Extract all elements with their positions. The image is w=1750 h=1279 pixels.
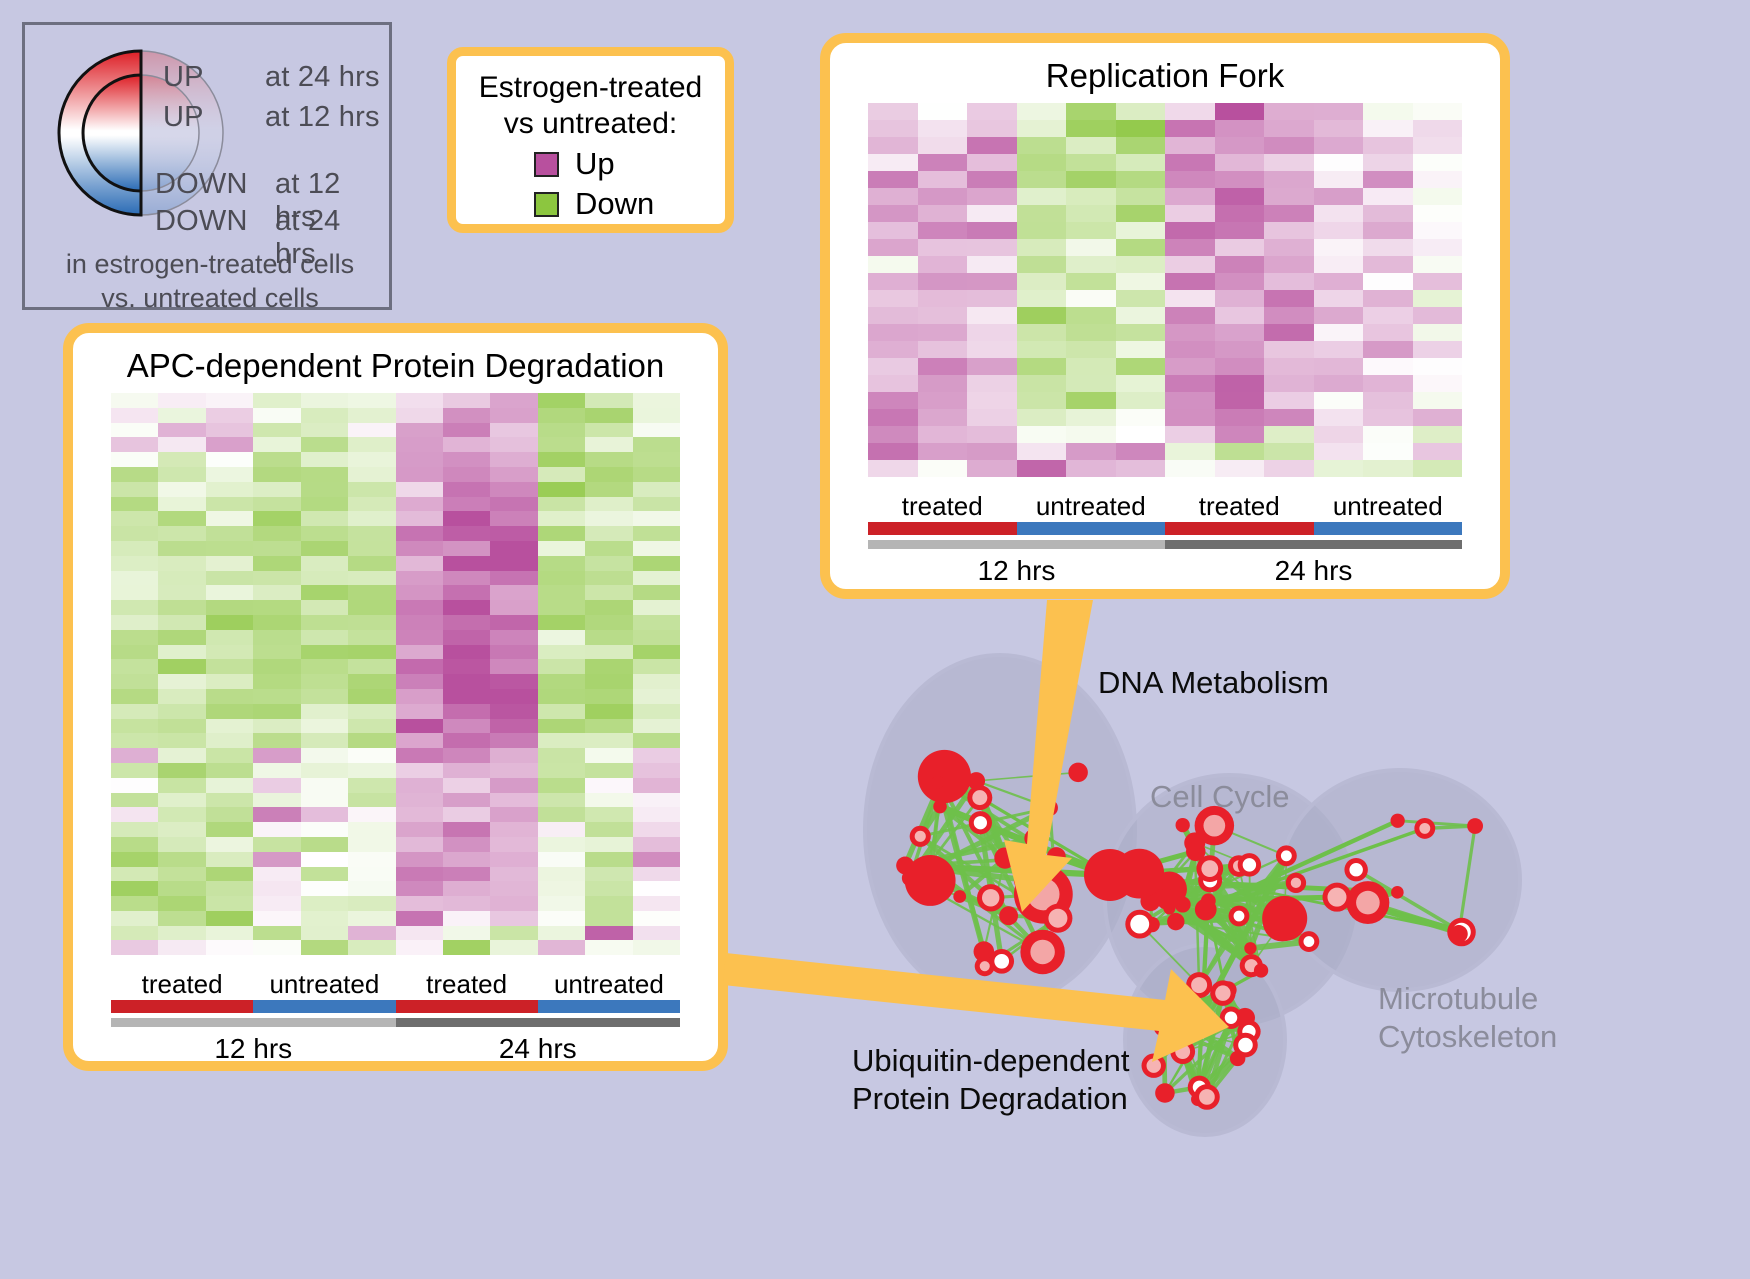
network-edge: [1368, 903, 1459, 934]
network-edge: [1177, 1017, 1197, 1100]
heatmap-cell: [206, 807, 253, 822]
network-edge: [1198, 869, 1210, 1100]
heatmap-cell: [1363, 171, 1413, 188]
network-node: [1184, 832, 1205, 853]
heatmap-cell: [1165, 409, 1215, 426]
heatmap-cell: [1413, 239, 1463, 256]
heatmap-cell: [585, 911, 632, 926]
cluster-label-microtubule: Microtubule: [1378, 980, 1557, 1018]
network-edge: [1285, 856, 1287, 919]
heatmap-cell: [1413, 307, 1463, 324]
network-node: [1152, 871, 1187, 906]
heatmap-cell: [1165, 273, 1215, 290]
heatmap-cell: [1215, 307, 1265, 324]
heatmap-cell: [158, 793, 205, 808]
network-node-core: [1452, 923, 1471, 942]
heatmap-cell: [158, 778, 205, 793]
network-edge: [1139, 874, 1284, 919]
network-edge: [1195, 843, 1231, 1018]
heatmap-cell: [1066, 341, 1116, 358]
network-edge: [1368, 892, 1397, 902]
heatmap-cell: [158, 837, 205, 852]
heatmap-cell: [1165, 358, 1215, 375]
heatmap-cell: [1165, 188, 1215, 205]
network-edge: [920, 836, 1058, 918]
heatmap-cell: [868, 120, 918, 137]
heatmap-cell: [633, 482, 680, 497]
heatmap-cell: [443, 556, 490, 571]
heatmap-cell: [1165, 324, 1215, 341]
heatmap-cell: [253, 704, 300, 719]
network-node: [1276, 845, 1297, 866]
heatmap-cell: [111, 793, 158, 808]
legend-item-down: Down: [534, 186, 725, 222]
network-edge: [910, 878, 930, 880]
heatmap-cell: [538, 645, 585, 660]
network-node-core: [1291, 878, 1301, 888]
heatmap-cell: [490, 482, 537, 497]
heatmap-cell: [538, 659, 585, 674]
heatmap-cell: [1017, 239, 1067, 256]
heatmap-cell: [967, 188, 1017, 205]
heatmap-cell: [918, 205, 968, 222]
heatmap-cell: [206, 526, 253, 541]
heatmap-cell: [253, 793, 300, 808]
heatmap-cell: [1363, 375, 1413, 392]
heatmap-cell: [348, 393, 395, 408]
heatmap-cell: [206, 689, 253, 704]
heatmap-cell: [1314, 171, 1364, 188]
heatmap-cell: [1116, 375, 1166, 392]
network-node: [1170, 1039, 1195, 1064]
network-edge: [910, 808, 1050, 878]
heatmap-cell: [868, 375, 918, 392]
heatmap-cell: [348, 733, 395, 748]
heatmap-cell: [1215, 273, 1265, 290]
heatmap-cell: [1066, 375, 1116, 392]
network-edge: [1206, 901, 1209, 910]
updown-legend-title: Estrogen-treated vs untreated:: [456, 56, 725, 142]
heatmap-cell: [443, 793, 490, 808]
network-node: [1344, 858, 1367, 881]
heatmap-cell: [348, 896, 395, 911]
heatmap-cell: [1215, 222, 1265, 239]
heatmap-cell: [918, 307, 968, 324]
heatmap-cell: [1165, 222, 1215, 239]
heatmap-cell: [967, 103, 1017, 120]
heatmap-cell: [206, 674, 253, 689]
heatmap-cell: [1413, 290, 1463, 307]
heatmap-cell: [1413, 392, 1463, 409]
heatmap-cell: [111, 482, 158, 497]
heatmap-cell: [253, 807, 300, 822]
heatmap-cell: [1165, 256, 1215, 273]
heatmap-cell: [1215, 290, 1265, 307]
heatmap-cell: [206, 585, 253, 600]
heatmap-cell: [206, 497, 253, 512]
panel-apc-degradation: APC-dependent Protein Degradation treate…: [63, 323, 728, 1071]
heatmap-cell: [538, 571, 585, 586]
network-node: [1262, 896, 1307, 941]
heatmap-cell: [206, 926, 253, 941]
network-edge: [928, 798, 979, 865]
network-node: [999, 906, 1018, 925]
heatmap-cell: [1314, 426, 1364, 443]
heatmap-cell: [253, 645, 300, 660]
heatmap-cell: [1165, 103, 1215, 120]
heatmap-cell: [918, 324, 968, 341]
network-edge: [1337, 897, 1462, 932]
heatmap-cell: [585, 585, 632, 600]
heatmap-cell: [1017, 341, 1067, 358]
network-edge: [1146, 880, 1398, 892]
network-edge: [1169, 865, 1249, 889]
network-node: [1233, 1033, 1258, 1058]
heatmap-cell: [1215, 256, 1265, 273]
heatmap-cell: [538, 748, 585, 763]
wheel-time-up-24: at 24 hrs: [265, 61, 380, 94]
heatmap-cell: [918, 273, 968, 290]
heatmap-cell: [1116, 205, 1166, 222]
network-edge: [1398, 821, 1475, 826]
network-node-core: [1215, 985, 1230, 1000]
heatmap-cell: [301, 511, 348, 526]
heatmap-cell: [490, 733, 537, 748]
heatmap-cell: [206, 630, 253, 645]
network-node: [902, 870, 919, 887]
heatmap-cell: [1017, 392, 1067, 409]
network-edge: [1140, 880, 1210, 924]
network-node: [1235, 1008, 1255, 1028]
network-node: [1142, 1054, 1166, 1078]
network-node: [1156, 889, 1177, 910]
network-edge: [960, 896, 1009, 915]
network-node: [1114, 849, 1164, 899]
network-edge: [1177, 1017, 1207, 1097]
heatmap-cell: [490, 867, 537, 882]
panel-replication-fork: Replication Fork treateduntreatedtreated…: [820, 33, 1510, 599]
heatmap-cell: [348, 748, 395, 763]
heatmap-cell: [1116, 222, 1166, 239]
heatmap-cell: [538, 763, 585, 778]
heatmap-cell: [538, 408, 585, 423]
heatmap-cell: [868, 103, 918, 120]
condition-color-bar-apc: [111, 1000, 680, 1013]
heatmap-cell: [538, 911, 585, 926]
network-edge: [1183, 856, 1287, 1052]
arrow-replication-fork-to-cluster: [1004, 600, 1093, 912]
heatmap-cell: [868, 137, 918, 154]
heatmap-cell: [967, 409, 1017, 426]
heatmap-cell: [1363, 290, 1413, 307]
heatmap-cell: [1314, 290, 1364, 307]
network-node: [1014, 865, 1073, 924]
cluster-halo-microtubule: [1280, 770, 1520, 990]
network-node-core: [1303, 936, 1314, 947]
heatmap-cell: [1264, 120, 1314, 137]
time-label: 12 hrs: [868, 555, 1165, 587]
heatmap-cell: [111, 585, 158, 600]
heatmap-cell: [490, 556, 537, 571]
heatmap-cell: [585, 467, 632, 482]
heatmap-cell: [1116, 239, 1166, 256]
heatmap-cell: [111, 645, 158, 660]
heatmap-cell: [158, 763, 205, 778]
network-edge: [938, 781, 976, 782]
network-edge: [1150, 897, 1337, 901]
heatmap-cell: [1116, 460, 1166, 477]
heatmap-cell: [1215, 188, 1265, 205]
network-edge: [976, 781, 1005, 858]
network-edge: [1250, 856, 1286, 948]
heatmap-cell: [585, 926, 632, 941]
heatmap-cell: [538, 778, 585, 793]
network-edge: [1154, 990, 1228, 1066]
network-edge: [1183, 825, 1252, 966]
heatmap-cell: [253, 482, 300, 497]
heatmap-cell: [868, 239, 918, 256]
heatmap-cell: [348, 630, 395, 645]
heatmap-cell: [490, 689, 537, 704]
heatmap-cell: [206, 423, 253, 438]
heatmap-cell: [1017, 426, 1067, 443]
heatmap-cell: [253, 674, 300, 689]
heatmap-cell: [1066, 256, 1116, 273]
heatmap-cell: [396, 556, 443, 571]
heatmap-cell: [348, 926, 395, 941]
heatmap-cell: [1413, 324, 1463, 341]
heatmap-cell: [443, 748, 490, 763]
heatmap-cell: [301, 704, 348, 719]
heatmap-cell: [301, 896, 348, 911]
network-edge: [1169, 883, 1296, 889]
network-node: [1230, 1051, 1245, 1066]
heatmap-cell: [1215, 324, 1265, 341]
heatmap-cell: [111, 571, 158, 586]
heatmap-cell: [301, 793, 348, 808]
heatmap-cell: [1116, 103, 1166, 120]
network-node: [989, 949, 1014, 974]
network-node: [1047, 847, 1066, 866]
network-edge: [905, 782, 941, 865]
network-edge: [1183, 1018, 1245, 1052]
heatmap-cell: [443, 689, 490, 704]
heatmap-cell: [633, 807, 680, 822]
heatmap-cell: [490, 571, 537, 586]
network-edge: [1210, 866, 1239, 869]
heatmap-cell: [1116, 188, 1166, 205]
time-color-segment: [396, 1018, 681, 1027]
network-edge: [1206, 910, 1251, 949]
heatmap-cell: [158, 719, 205, 734]
heatmap-cell: [396, 393, 443, 408]
heatmap-cell: [1413, 375, 1463, 392]
network-edge: [1183, 825, 1261, 970]
network-node: [1263, 903, 1301, 941]
heatmap-cell: [1017, 103, 1067, 120]
heatmap-cell: [111, 467, 158, 482]
heatmap-cell: [633, 852, 680, 867]
condition-color-segment: [1314, 522, 1463, 535]
heatmap-cell: [396, 881, 443, 896]
network-edge: [976, 772, 1078, 781]
heatmap-cell: [111, 719, 158, 734]
heatmap-cell: [443, 615, 490, 630]
heatmap-cell: [396, 452, 443, 467]
heatmap-cell: [443, 807, 490, 822]
network-node: [1144, 917, 1159, 932]
heatmap-cell: [1264, 443, 1314, 460]
network-edge: [1050, 808, 1058, 918]
network-edge: [1208, 883, 1296, 901]
heatmap-cell: [490, 585, 537, 600]
wheel-caption-line2: vs. untreated cells: [25, 281, 395, 315]
network-edge: [905, 838, 1034, 865]
heatmap-cell: [348, 837, 395, 852]
heatmap-cell: [585, 778, 632, 793]
heatmap-cell: [490, 674, 537, 689]
heatmap-cell: [1165, 443, 1215, 460]
heatmap-cell: [1165, 171, 1215, 188]
network-edge: [1152, 918, 1285, 924]
heatmap-cell: [1314, 103, 1364, 120]
heatmap-cell: [967, 239, 1017, 256]
network-node-core: [1233, 860, 1245, 872]
network-node: [1188, 1076, 1211, 1099]
condition-labels-apc: treateduntreatedtreateduntreated: [111, 969, 680, 1000]
network-edge: [980, 823, 1058, 919]
heatmap-cell: [1165, 120, 1215, 137]
heatmap-cell: [301, 926, 348, 941]
updown-title-line1: Estrogen-treated: [470, 70, 711, 106]
heatmap-cell: [538, 807, 585, 822]
network-node: [1186, 972, 1212, 998]
heatmap-cell: [253, 467, 300, 482]
heatmap-cell: [1363, 443, 1413, 460]
heatmap-cell: [348, 437, 395, 452]
heatmap-cell: [301, 541, 348, 556]
heatmap-cell: [111, 659, 158, 674]
network-edge: [1183, 1032, 1249, 1052]
heatmap-cell: [301, 630, 348, 645]
heatmap-cell: [253, 659, 300, 674]
network-edge: [1206, 866, 1239, 910]
heatmap-cell: [111, 497, 158, 512]
heatmap-cell: [348, 867, 395, 882]
network-edge: [941, 782, 1057, 856]
network-node: [967, 785, 992, 810]
network-node: [1043, 904, 1072, 933]
network-edge: [960, 858, 1005, 896]
network-node: [1414, 818, 1435, 839]
heatmap-cell: [538, 822, 585, 837]
heatmap-cell: [1215, 409, 1265, 426]
heatmap-cell: [348, 807, 395, 822]
network-edge: [910, 878, 960, 896]
heatmap-cell: [490, 793, 537, 808]
heatmap-cell: [253, 926, 300, 941]
heatmap-cell: [1165, 460, 1215, 477]
heatmap-cell: [585, 852, 632, 867]
heatmap-cell: [1215, 426, 1265, 443]
heatmap-cell: [443, 467, 490, 482]
heatmap-cell: [633, 541, 680, 556]
network-edge: [1250, 942, 1308, 949]
heatmap-cell: [633, 748, 680, 763]
heatmap-cell: [396, 719, 443, 734]
network-edge: [1210, 869, 1309, 942]
cluster-label-ubiquitin-degradation: Ubiquitin-dependent Protein Degradation: [852, 1042, 1130, 1118]
heatmap-cell: [111, 437, 158, 452]
heatmap-cell: [633, 733, 680, 748]
condition-color-segment: [111, 1000, 253, 1013]
heatmap-cell: [538, 867, 585, 882]
network-edge: [1154, 1026, 1164, 1066]
network-edge: [1164, 1026, 1245, 1045]
heatmap-cell: [538, 615, 585, 630]
network-edge: [1169, 901, 1208, 909]
heatmap-cell: [253, 541, 300, 556]
network-edge: [1223, 993, 1249, 1031]
network-node-core: [1281, 850, 1292, 861]
network-edge: [1223, 990, 1228, 993]
network-edge: [1176, 851, 1196, 921]
panel-title-replication-fork: Replication Fork: [830, 57, 1500, 95]
heatmap-cell: [1215, 120, 1265, 137]
network-edge: [938, 782, 980, 797]
condition-labels-replication-fork: treateduntreatedtreateduntreated: [868, 491, 1462, 522]
heatmap-cell: [585, 704, 632, 719]
network-edge: [1356, 870, 1461, 932]
heatmap-cell: [1017, 222, 1067, 239]
heatmap-cell: [633, 911, 680, 926]
heatmap-cell: [396, 585, 443, 600]
heatmap-cell: [206, 911, 253, 926]
heatmap-cell: [1116, 137, 1166, 154]
heatmap-cell: [1413, 205, 1463, 222]
network-edge: [920, 782, 941, 836]
heatmap-cell: [1215, 171, 1265, 188]
heatmap-cell: [918, 239, 968, 256]
heatmap-cell: [443, 940, 490, 955]
heatmap-cell: [868, 392, 918, 409]
heatmap-cell: [206, 896, 253, 911]
heatmap-cell: [585, 423, 632, 438]
heatmap-cell: [348, 423, 395, 438]
heatmap-cell: [253, 867, 300, 882]
heatmap-cell: [301, 719, 348, 734]
network-edge: [1199, 916, 1239, 985]
network-edge: [1177, 1017, 1237, 1059]
heatmap-cell: [301, 940, 348, 955]
heatmap-cell: [1066, 154, 1116, 171]
heatmap-cell: [301, 526, 348, 541]
heatmap-cell: [111, 689, 158, 704]
network-edge: [1176, 918, 1285, 921]
network-edge: [1164, 993, 1223, 1026]
network-node: [1286, 873, 1306, 893]
heatmap-cell: [633, 659, 680, 674]
heatmap-cell: [301, 733, 348, 748]
heatmap-cell: [443, 896, 490, 911]
heatmap-cell: [633, 763, 680, 778]
heatmap-cell: [1165, 205, 1215, 222]
network-edge: [910, 878, 1043, 952]
heatmap-cell: [206, 778, 253, 793]
heatmap-cell: [1264, 426, 1314, 443]
heatmap-cell: [253, 763, 300, 778]
network-edge: [1206, 910, 1309, 942]
